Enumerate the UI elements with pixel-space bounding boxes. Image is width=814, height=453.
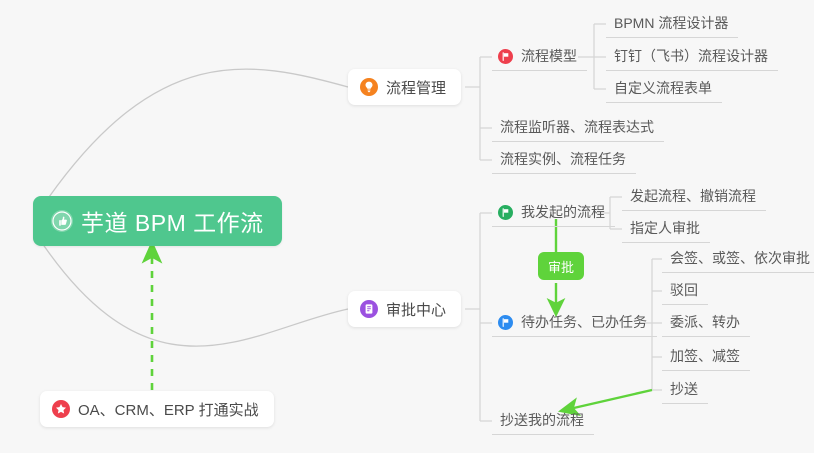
node-label: 流程监听器、流程表达式	[500, 117, 654, 137]
approval-tag-badge[interactable]: 审批	[538, 252, 584, 280]
leaf-node[interactable]: 抄送	[662, 375, 708, 404]
branch-label: 流程管理	[386, 77, 446, 98]
node-label: 流程模型	[521, 46, 577, 66]
branch-node-process-management[interactable]: 流程管理	[348, 69, 461, 105]
integration-card-label: OA、CRM、ERP 打通实战	[78, 399, 259, 420]
branch-node-approval-center[interactable]: 审批中心	[348, 291, 461, 327]
node-label: 驳回	[670, 280, 698, 300]
root-label: 芋道 BPM 工作流	[81, 204, 264, 238]
node-label: 抄送我的流程	[500, 410, 584, 430]
leaf-node[interactable]: 流程监听器、流程表达式	[492, 113, 664, 142]
leaf-node[interactable]: 抄送我的流程	[492, 406, 594, 435]
leaf-node[interactable]: 驳回	[662, 276, 708, 305]
node-label: 指定人审批	[630, 218, 700, 238]
node-label: 流程实例、流程任务	[500, 149, 626, 169]
node-label: 加签、减签	[670, 346, 740, 366]
leaf-node[interactable]: 钉钉（飞书）流程设计器	[606, 42, 778, 71]
star-icon	[52, 400, 70, 418]
node-todo-done[interactable]: 待办任务、已办任务	[492, 308, 657, 337]
thumbs-up-icon	[51, 210, 73, 232]
node-label: 待办任务、已办任务	[521, 312, 647, 332]
approval-tag-label: 审批	[548, 257, 574, 276]
node-label: 抄送	[670, 379, 698, 399]
leaf-node[interactable]: 指定人审批	[622, 214, 710, 243]
node-process-model[interactable]: 流程模型	[492, 42, 587, 71]
node-label: 钉钉（飞书）流程设计器	[614, 46, 768, 66]
leaf-node[interactable]: 委派、转办	[662, 308, 750, 337]
root-node[interactable]: 芋道 BPM 工作流	[33, 196, 282, 246]
flag-icon	[498, 49, 513, 64]
mindmap-canvas: 芋道 BPM 工作流 流程管理 流程模型 BPMN 流程设计器 钉钉（飞书）流程	[0, 0, 814, 453]
leaf-node[interactable]: 加签、减签	[662, 342, 750, 371]
node-my-initiated[interactable]: 我发起的流程	[492, 198, 615, 227]
branch-label: 审批中心	[386, 299, 446, 320]
integration-card[interactable]: OA、CRM、ERP 打通实战	[40, 391, 274, 427]
leaf-node[interactable]: BPMN 流程设计器	[606, 9, 738, 38]
leaf-node[interactable]: 会签、或签、依次审批	[662, 244, 814, 273]
node-label: BPMN 流程设计器	[614, 13, 728, 33]
flag-icon	[498, 205, 513, 220]
node-label: 会签、或签、依次审批	[670, 248, 810, 268]
leaf-node[interactable]: 发起流程、撤销流程	[622, 182, 766, 211]
node-label: 自定义流程表单	[614, 78, 712, 98]
flag-icon	[498, 315, 513, 330]
lightbulb-icon	[360, 78, 378, 96]
leaf-node[interactable]: 自定义流程表单	[606, 74, 722, 103]
leaf-node[interactable]: 流程实例、流程任务	[492, 145, 636, 174]
node-label: 发起流程、撤销流程	[630, 186, 756, 206]
node-label: 委派、转办	[670, 312, 740, 332]
clipboard-icon	[360, 300, 378, 318]
node-label: 我发起的流程	[521, 202, 605, 222]
